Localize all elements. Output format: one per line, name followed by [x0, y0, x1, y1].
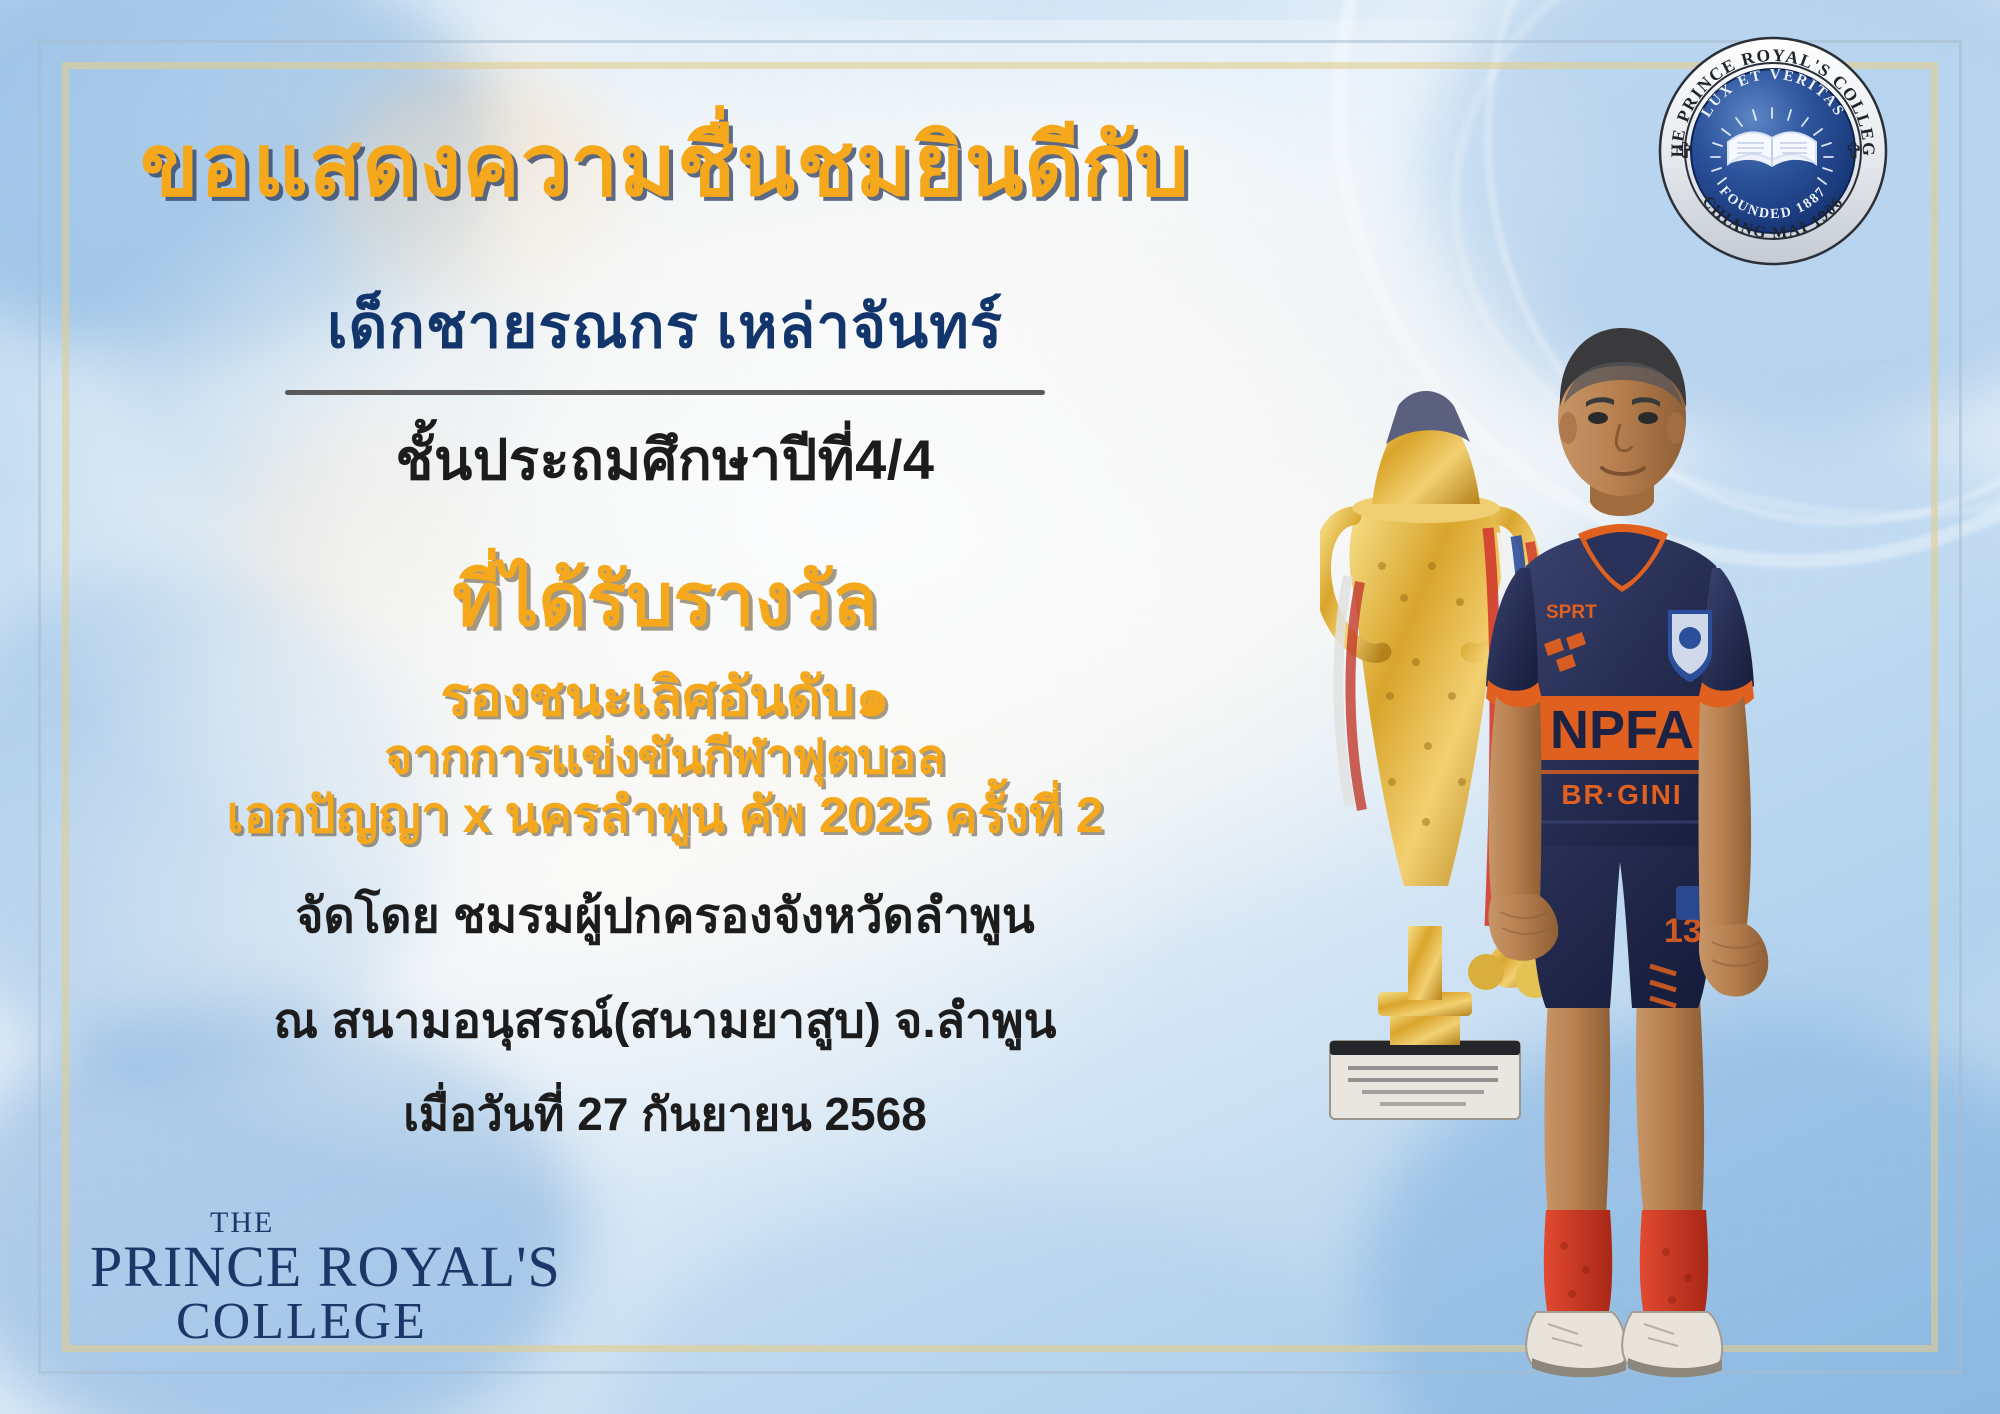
student-grade: ชั้นประถมศึกษาปีที่4/4 — [396, 415, 935, 504]
medal-ribbons — [1338, 528, 1555, 998]
arms — [1489, 696, 1769, 996]
event-date-line: เมื่อวันที่ 27 กันยายน 2568 — [403, 1083, 927, 1145]
jersey-brand-text: SPRT — [1546, 602, 1597, 623]
wordmark-line-prince-royals: PRINCE ROYAL'S — [90, 1238, 520, 1296]
watercolor-blob — [1360, 1014, 2000, 1414]
right-hand — [1699, 924, 1768, 996]
school-wordmark: THE PRINCE ROYAL'S COLLEGE — [90, 1208, 520, 1348]
award-rank: รองชนะเลิศอันดับ๑ — [440, 666, 889, 730]
school-seal: THE PRINCE ROYAL'S COLLEGE CHIANG MAI 19… — [1658, 36, 1888, 266]
award-heading: ที่ได้รับรางวัล — [452, 540, 877, 658]
cross-icon-right: ✞ — [1845, 138, 1863, 163]
legs — [1544, 966, 1708, 1316]
award-event-prefix: จากการแข่งขันกีฬาฟุตบอล — [384, 730, 945, 787]
left-hand — [1489, 894, 1559, 961]
venue-line: ณ สนามอนุสรณ์(สนามยาสูบ) จ.ลำพูน — [274, 990, 1057, 1055]
award-event-name: เอกปัญญา x นครลำพูน คัพ 2025 ครั้งที่ 2 — [226, 786, 1103, 845]
congratulations-headline: ขอแสดงความชื่นชมยินดีกับ — [140, 96, 1190, 233]
jersey-sponsor-text: BR·GINI — [1561, 779, 1682, 810]
organizer-line: จัดโดย ชมรมผู้ปกครองจังหวัดลำพูน — [295, 885, 1034, 950]
jersey-number: 13 — [1664, 912, 1702, 950]
shoes — [1526, 1312, 1722, 1377]
student-name: เด็กชายรณกร เหล่าจันทร์ — [327, 279, 1003, 374]
cross-icon-left: ✞ — [1676, 138, 1694, 163]
jersey: NPFA BR·GINI SPRT — [1486, 524, 1754, 846]
certificate-canvas: THE PRINCE ROYAL'S COLLEGE CHIANG MAI 19… — [0, 0, 2000, 1414]
team-crest-icon — [1668, 610, 1712, 682]
certificate-text-block: ขอแสดงความชื่นชมยินดีกับ เด็กชายรณกร เหล… — [0, 0, 1330, 1414]
jersey-text: NPFA — [1550, 700, 1694, 760]
trophy-icon — [1321, 391, 1530, 1119]
divider-rule — [285, 390, 1045, 395]
shorts: 13 — [1532, 826, 1713, 1008]
wordmark-line-college: COLLEGE — [176, 1296, 520, 1348]
